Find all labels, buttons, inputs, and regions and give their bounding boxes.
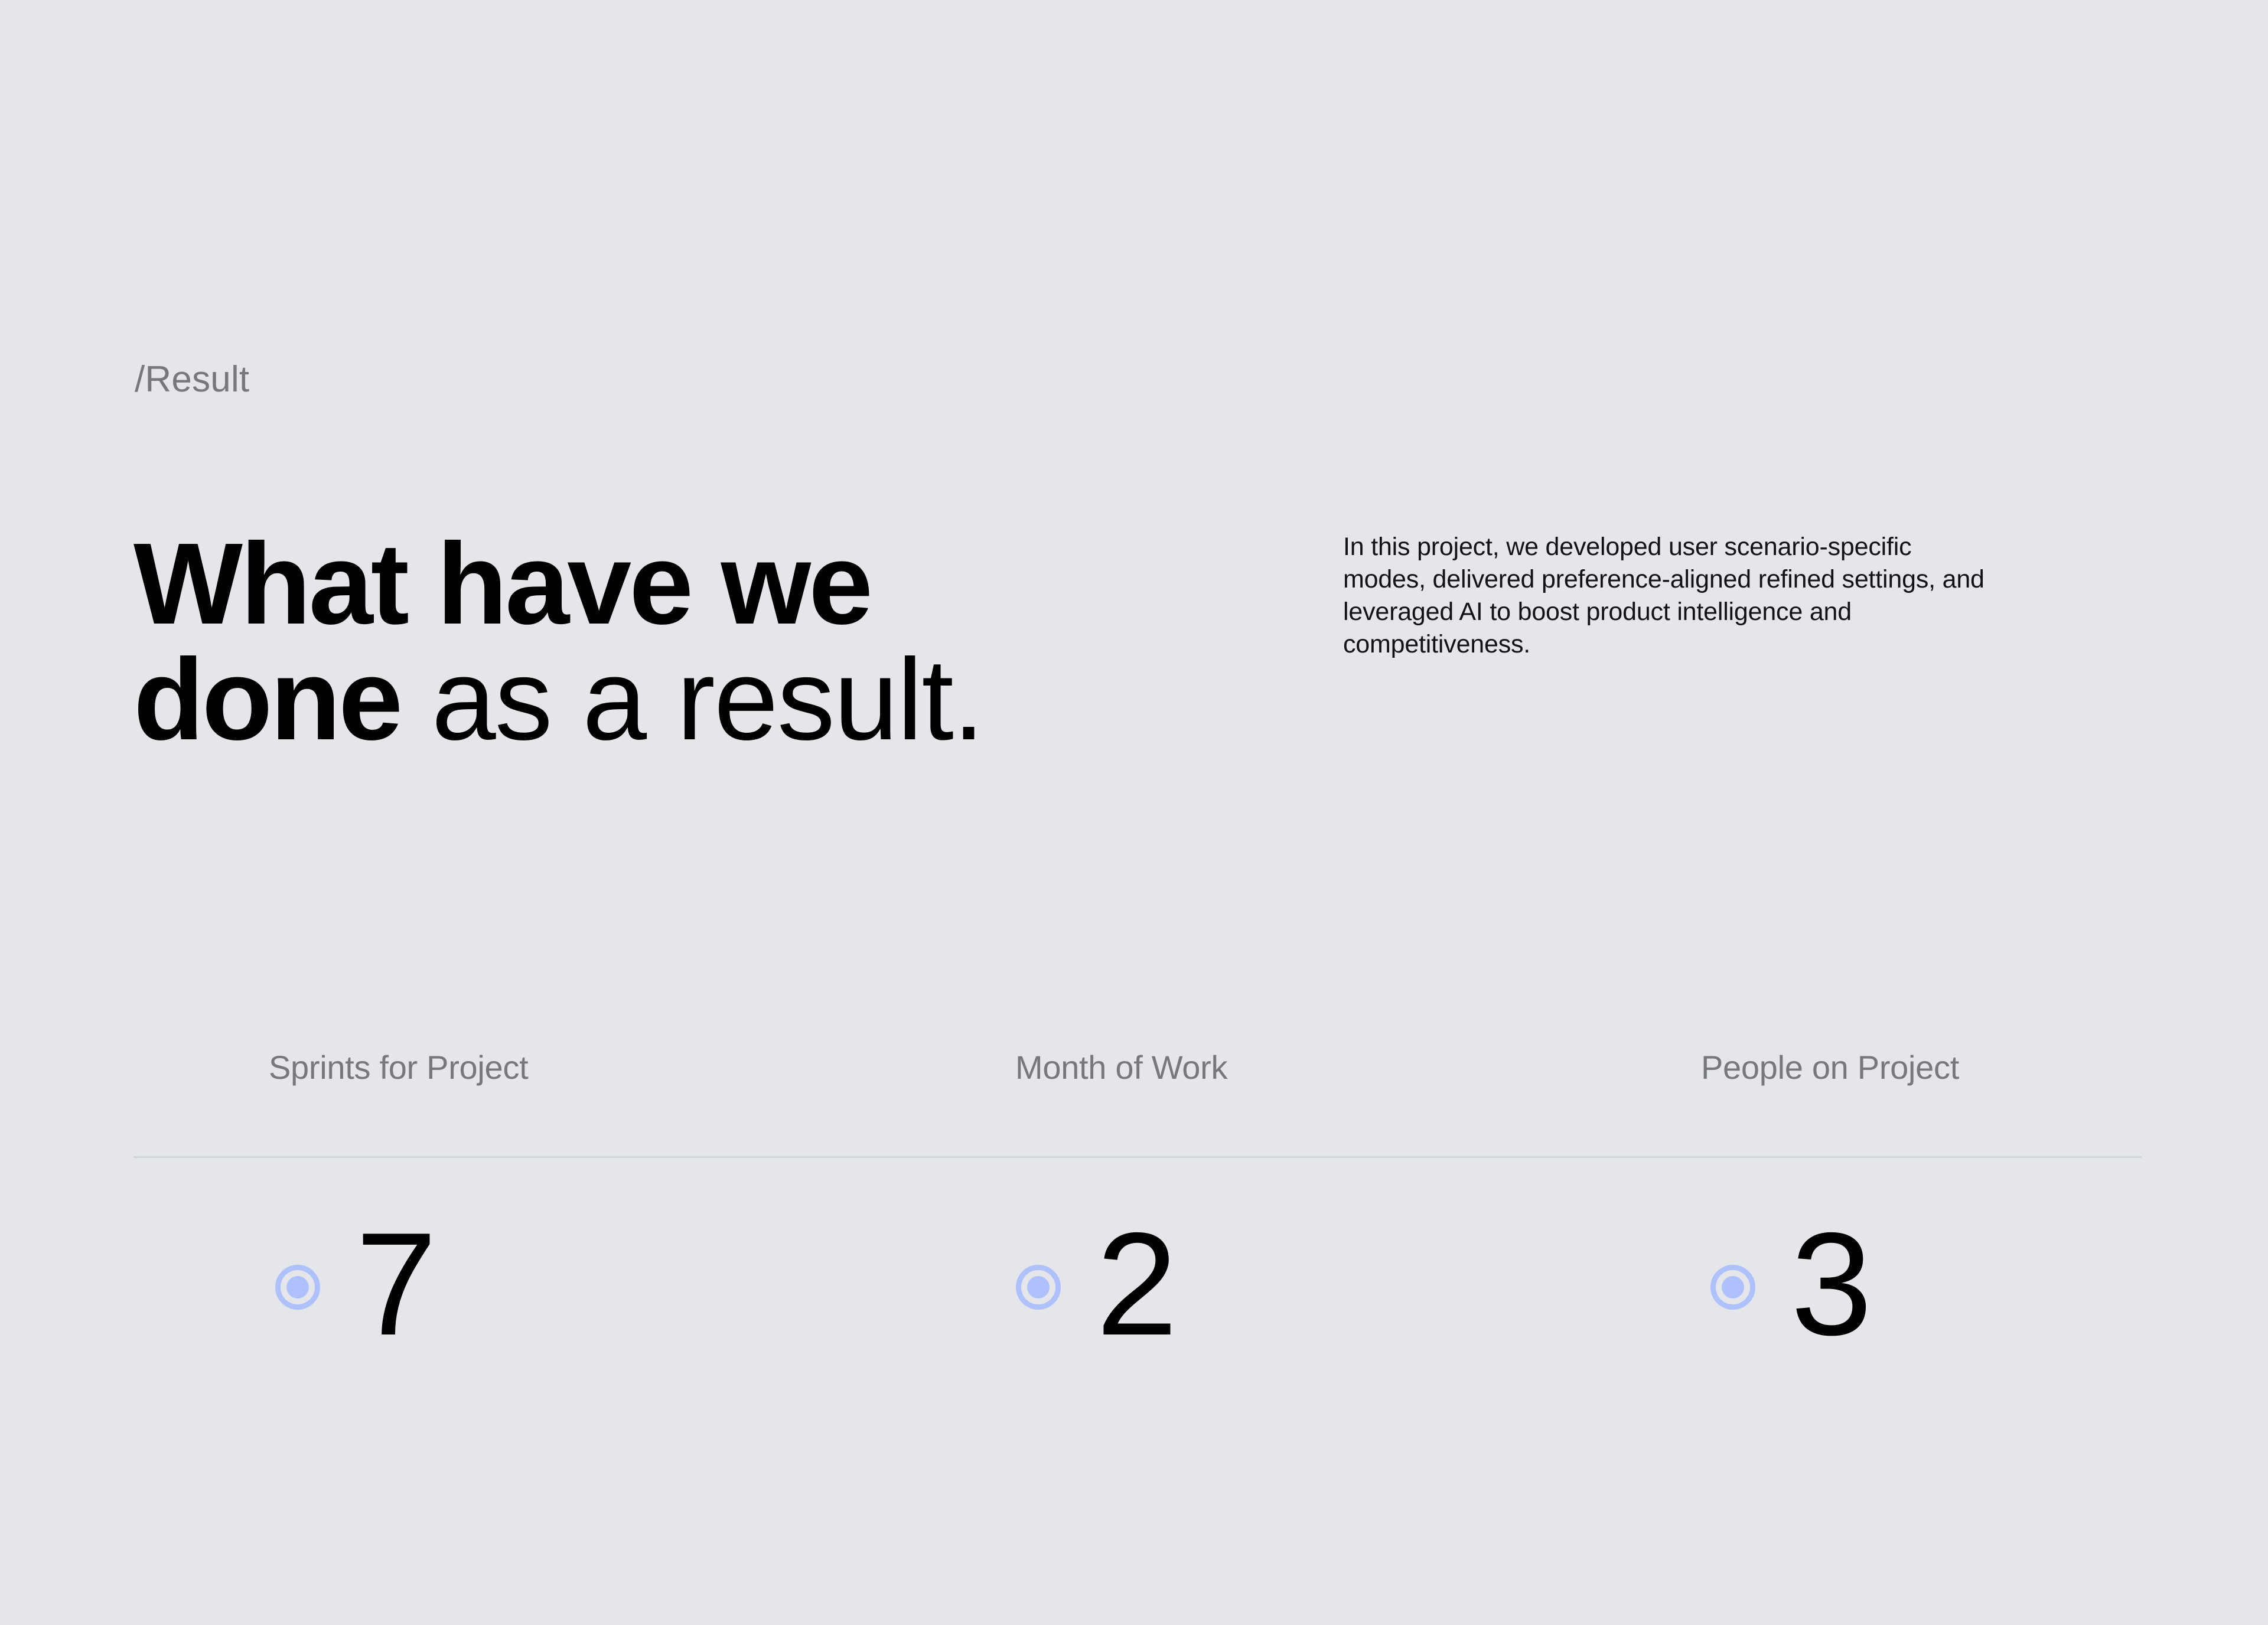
headline-line-1: What have we	[133, 526, 1138, 642]
headline-strong-2: done	[133, 635, 400, 764]
result-slide: /Result What have we done as a result. I…	[0, 0, 2268, 1625]
stat-item-month-of-work: 2	[1016, 1205, 1177, 1370]
radio-filled-icon	[1710, 1265, 1755, 1310]
result-description-paragraph: In this project, we developed user scena…	[1343, 531, 1993, 661]
stats-section: Sprints for Project Month of Work People…	[0, 1051, 2268, 1140]
stat-item-people-on-project: 3	[1710, 1205, 1871, 1370]
stat-label-month-of-work: Month of Work	[1015, 1051, 1227, 1084]
headline-strong-1: What have we	[133, 519, 871, 648]
stat-label-sprints-for-project: Sprints for Project	[269, 1051, 528, 1084]
stat-value-sprints-for-project: 7	[356, 1210, 436, 1357]
radio-filled-icon	[275, 1265, 320, 1310]
headline-light-2: as a result.	[400, 635, 983, 764]
headline-line-2: done as a result.	[133, 642, 1138, 758]
stats-value-row: 7 2 3	[0, 1205, 2268, 1382]
page-title: What have we done as a result.	[133, 526, 1138, 758]
stats-divider	[133, 1156, 2142, 1158]
stat-label-people-on-project: People on Project	[1701, 1051, 1959, 1084]
stat-item-sprints-for-project: 7	[275, 1205, 436, 1370]
stat-value-month-of-work: 2	[1096, 1210, 1177, 1357]
stat-value-people-on-project: 3	[1791, 1210, 1871, 1357]
stats-header-row: Sprints for Project Month of Work People…	[0, 1051, 2268, 1140]
radio-filled-icon	[1016, 1265, 1061, 1310]
section-eyebrow-label: /Result	[135, 361, 249, 398]
